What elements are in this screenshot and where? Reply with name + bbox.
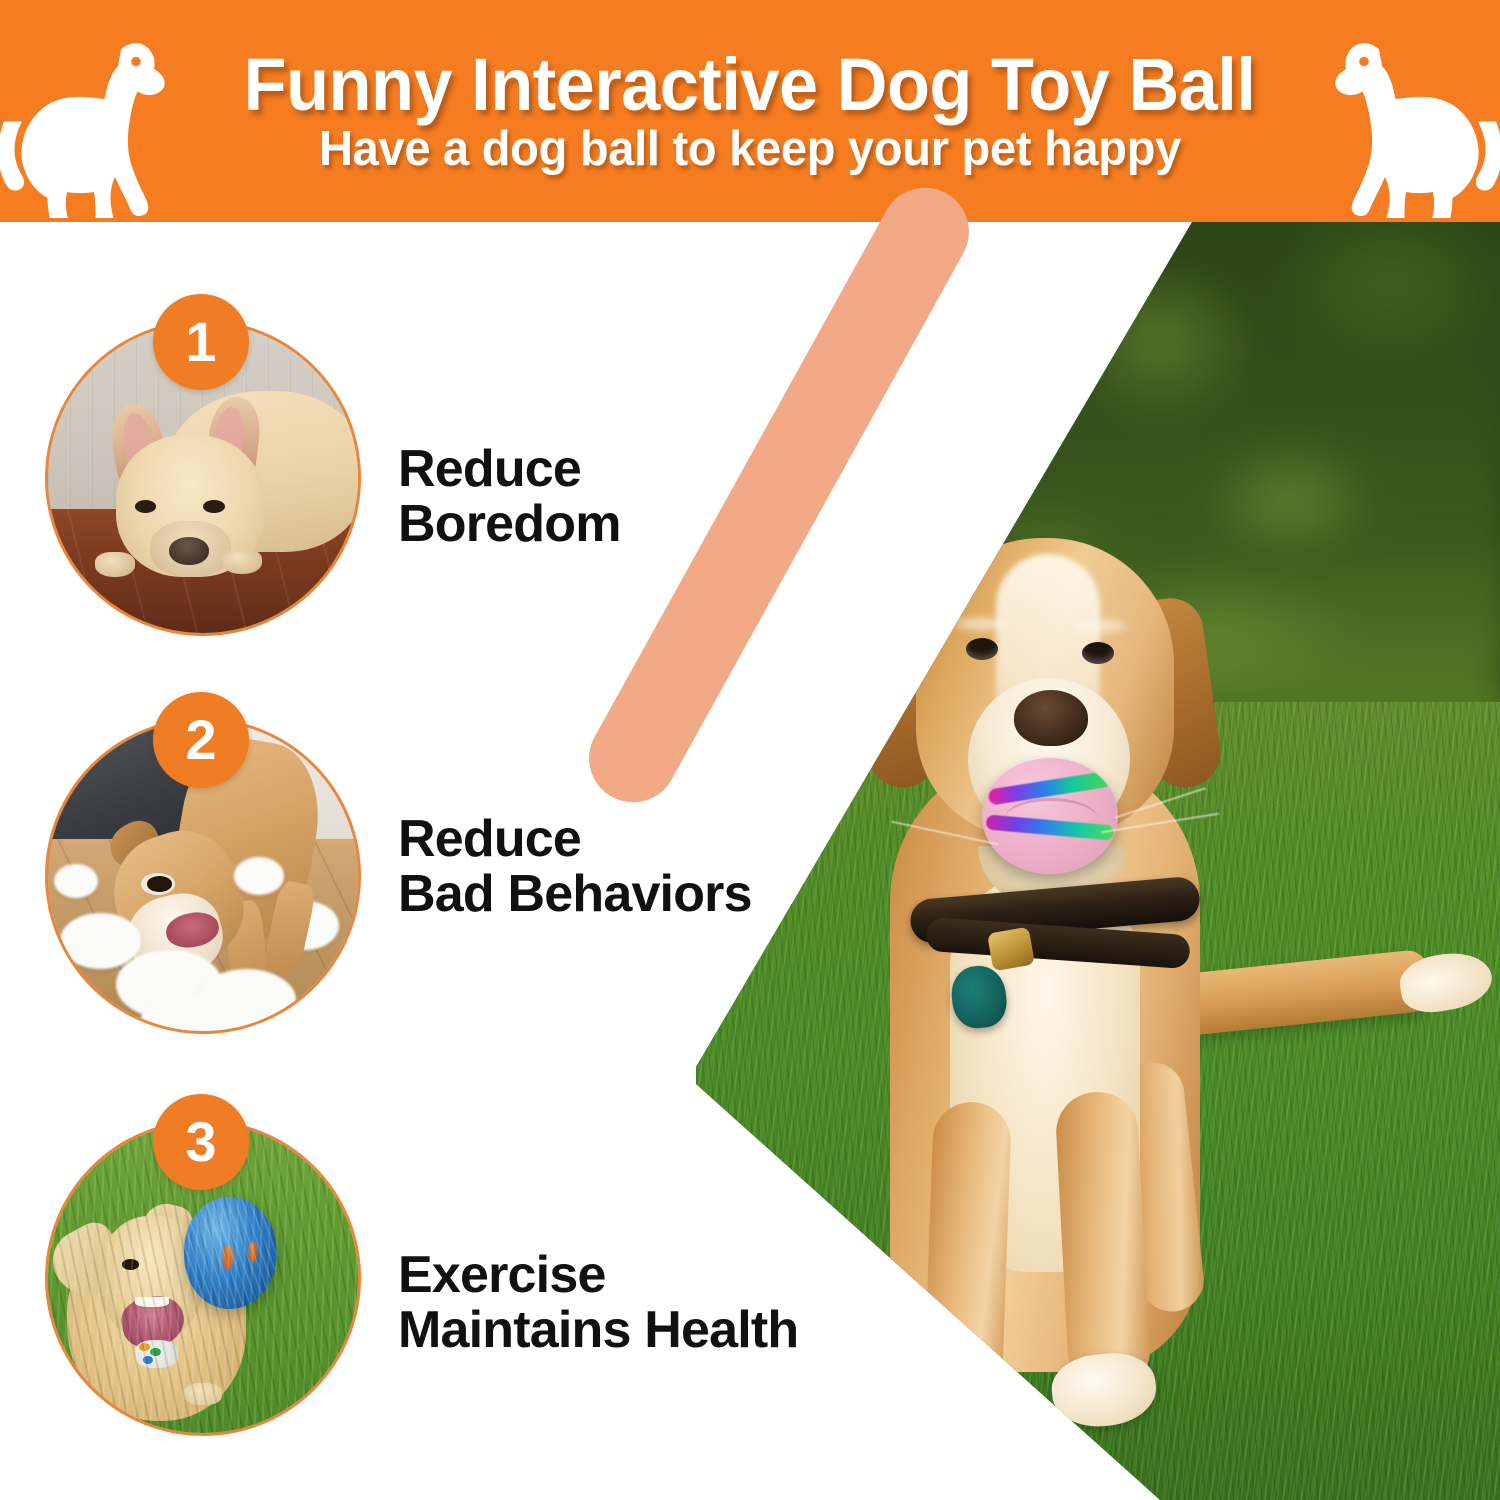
- led-toy-ball: [982, 758, 1118, 874]
- feature-label-3: Exercise Maintains Health: [398, 1248, 798, 1358]
- dog-eye: [147, 876, 172, 892]
- product-infographic: Funny Interactive Dog Toy Ball Have a do…: [0, 0, 1500, 1500]
- ball-orange-accent: [249, 1242, 256, 1262]
- dog-eyebrow-left: [956, 618, 1008, 630]
- feature-label-2: Reduce Bad Behaviors: [398, 812, 752, 922]
- small-dog-paw: [184, 1383, 221, 1405]
- feature-item-2: 2 Reduce Bad Behaviors: [45, 718, 805, 1038]
- bulldog-paw-right: [222, 549, 262, 574]
- page-subtitle: Have a dog ball to keep your pet happy: [319, 124, 1181, 175]
- dog-nose: [1014, 690, 1088, 746]
- dog-eye-left: [966, 638, 998, 660]
- plush-stuffing: [234, 857, 284, 894]
- small-dog-collar: [135, 1340, 178, 1368]
- feature-photo-3: 3: [45, 1120, 361, 1436]
- feature-photo-1: 1: [45, 320, 361, 636]
- small-dog-eye: [122, 1259, 139, 1270]
- collar-buckle: [987, 927, 1035, 972]
- dog-eyebrow-right: [1074, 620, 1126, 632]
- feature-number-badge: 3: [153, 1094, 249, 1190]
- hero-dog: [800, 502, 1360, 1500]
- bulldog-eye-left: [135, 500, 157, 513]
- collar-tag-dot: [143, 1356, 154, 1364]
- feature-number-badge: 2: [153, 692, 249, 788]
- small-dog-body: [67, 1228, 247, 1420]
- dog-front-leg-left: [922, 1101, 1012, 1444]
- dog-eye-right: [1082, 642, 1114, 664]
- small-dog-ear-left: [45, 1216, 134, 1308]
- dog-front-leg-right: [1054, 1090, 1152, 1394]
- collar-tag-dot: [139, 1343, 150, 1351]
- dog-paw-left: [916, 1404, 1016, 1477]
- blue-toy-ball: [184, 1197, 277, 1309]
- bulldog-nose: [169, 537, 209, 565]
- bulldog-eye-right: [203, 500, 225, 513]
- small-dog-teeth: [135, 1297, 169, 1308]
- small-dog-ear-right: [135, 1198, 197, 1264]
- bulldog-paw-left: [95, 552, 135, 577]
- collar-tag-dot: [150, 1348, 161, 1356]
- dog-silhouette-icon: [1328, 22, 1500, 218]
- small-dog-head: [98, 1216, 203, 1340]
- small-dog-open-mouth: [118, 1291, 189, 1352]
- feature-photo-2: 2: [45, 718, 361, 1034]
- ball-orange-accent: [223, 1246, 232, 1268]
- feature-item-3: 3 Exercise Maintains Health: [45, 1120, 805, 1440]
- plush-stuffing: [54, 864, 97, 898]
- header-banner: Funny Interactive Dog Toy Ball Have a do…: [0, 0, 1500, 222]
- feature-number-badge: 1: [153, 294, 249, 390]
- page-title: Funny Interactive Dog Toy Ball: [244, 47, 1256, 122]
